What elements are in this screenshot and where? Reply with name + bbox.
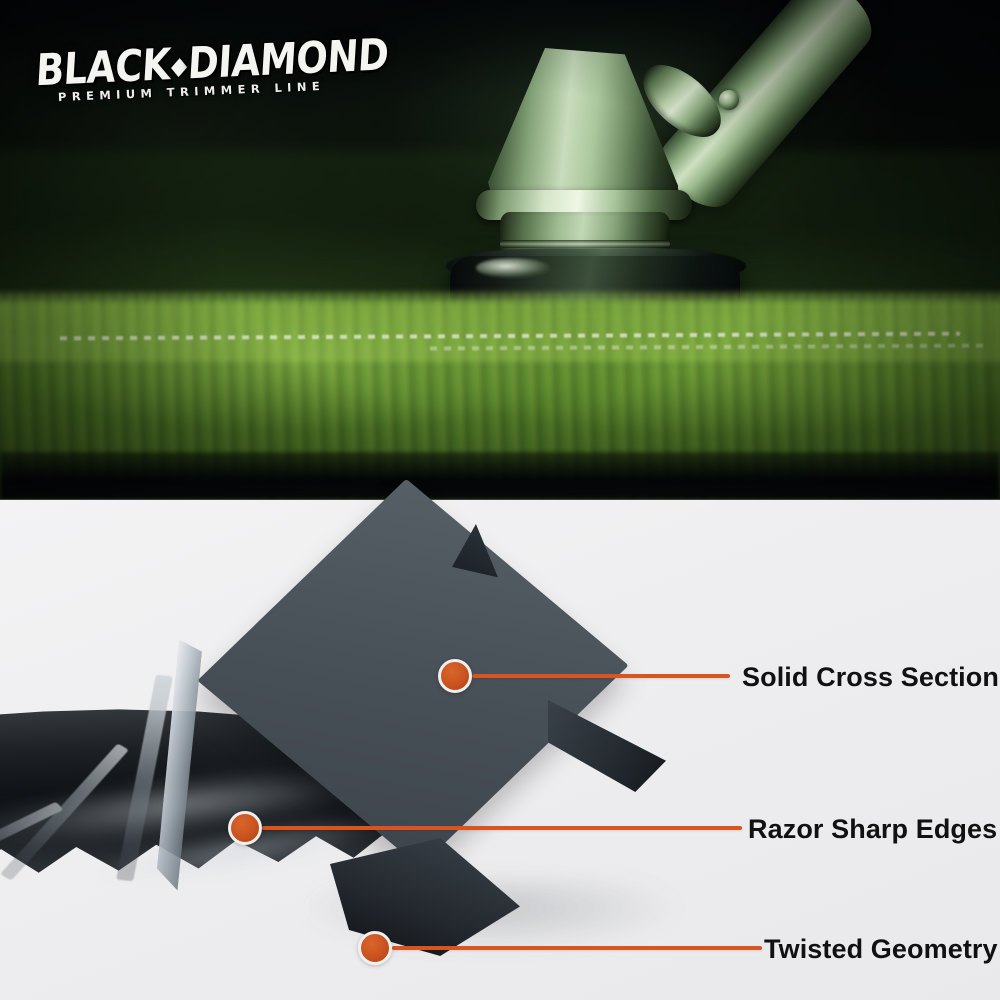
grass-tips: [0, 292, 1000, 362]
spool-hub-groove: [500, 240, 670, 248]
callout-dot-twisted-geometry[interactable]: [358, 931, 392, 965]
product-infographic: BLACK◆DIAMOND PREMIUM TRIMMER LINE Solid…: [0, 0, 1000, 1000]
callout-label-solid-cross-section: Solid Cross Section: [742, 662, 999, 693]
callout-label-twisted-geometry: Twisted Geometry: [764, 934, 998, 965]
spool-highlight: [476, 258, 550, 278]
ground-shadow: [0, 452, 1000, 500]
callout-line-razor-sharp-edges: [262, 826, 742, 830]
callout-line-twisted-geometry: [392, 946, 762, 950]
callout-dot-solid-cross-section[interactable]: [438, 659, 472, 693]
shaft-screw: [719, 90, 739, 110]
callout-line-solid-cross-section: [472, 674, 730, 678]
callout-label-razor-sharp-edges: Razor Sharp Edges: [748, 814, 997, 845]
brand-logo: BLACK◆DIAMOND PREMIUM TRIMMER LINE: [36, 52, 336, 105]
callout-dot-razor-sharp-edges[interactable]: [228, 811, 262, 845]
hero-night-photo: BLACK◆DIAMOND PREMIUM TRIMMER LINE: [0, 0, 1000, 500]
diamond-icon: ◆: [170, 51, 187, 80]
